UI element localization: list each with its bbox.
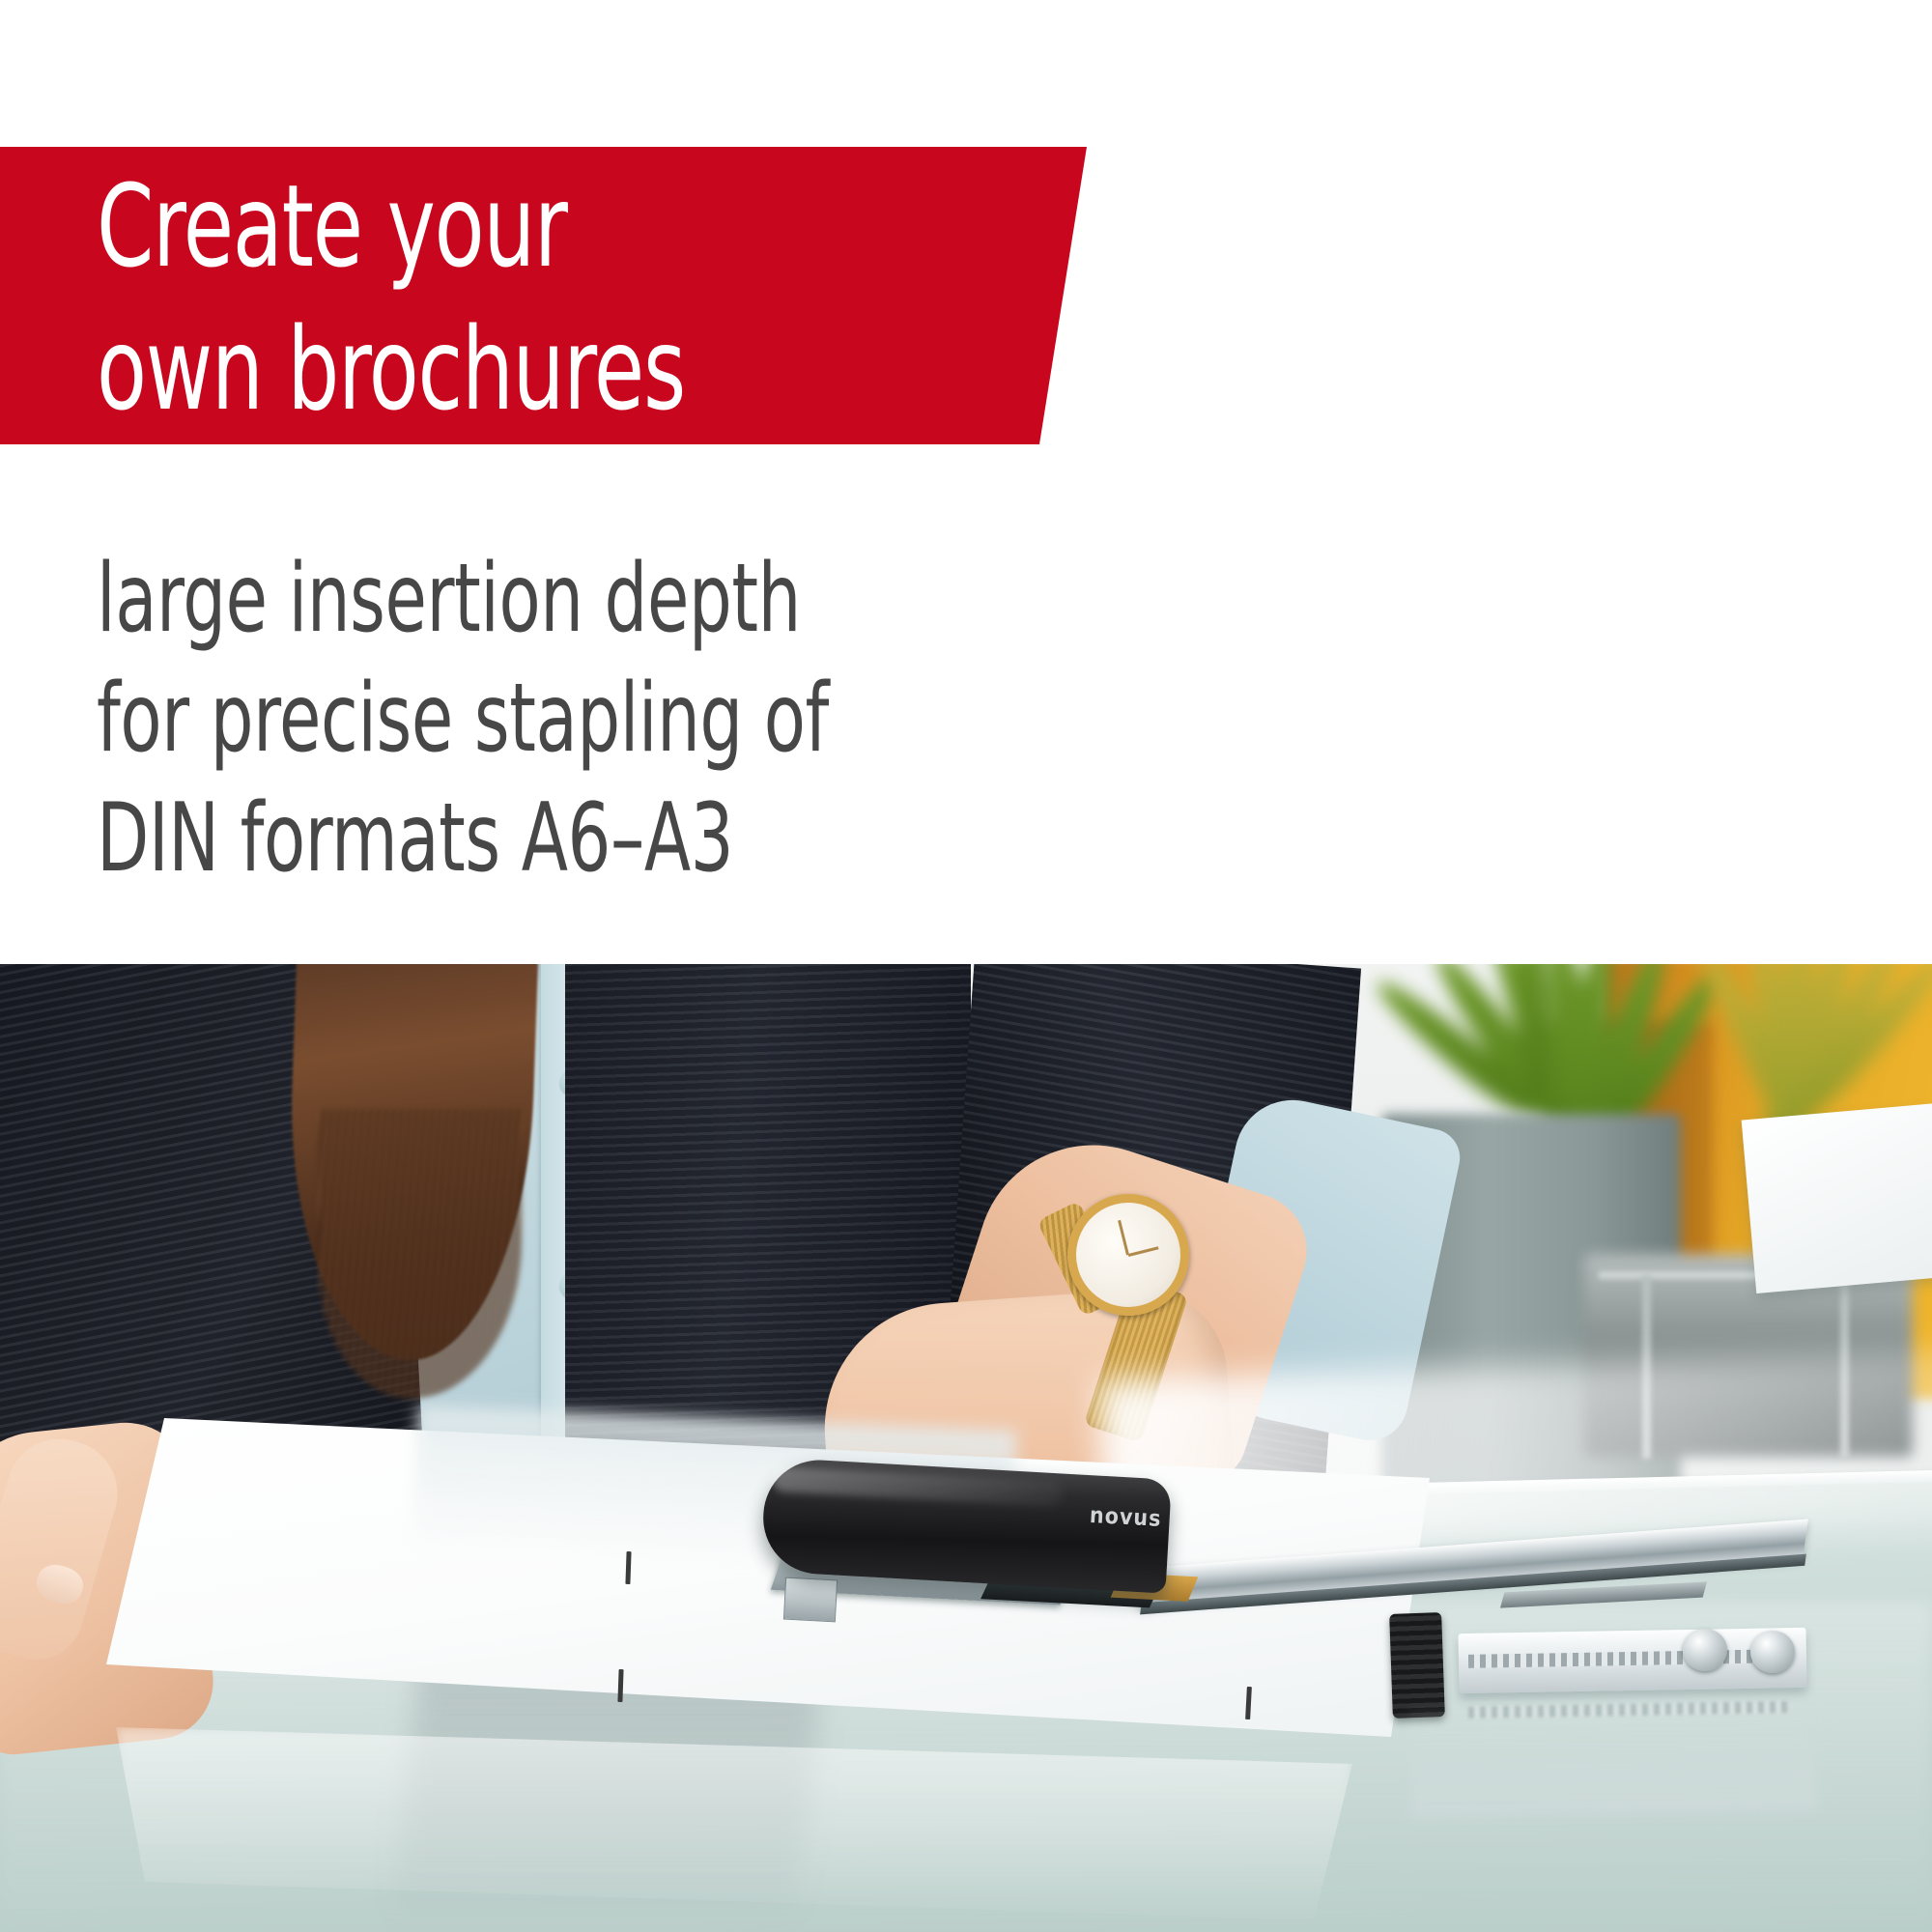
text-panel: Create your own brochures large insertio… <box>0 0 1932 964</box>
subheadline: large insertion depth for precise stapli… <box>97 539 1101 898</box>
product-feature-card: Create your own brochures large insertio… <box>0 0 1932 1932</box>
background-paper-corner <box>1742 1098 1932 1293</box>
headline: Create your own brochures <box>97 155 831 440</box>
novus-logo: novus <box>1089 1503 1162 1532</box>
paper-guide-bolt <box>1750 1631 1795 1673</box>
paper-guide-bolt <box>1683 1629 1727 1671</box>
stapler-anvil <box>783 1577 838 1623</box>
product-photo: novus <box>0 964 1932 1932</box>
